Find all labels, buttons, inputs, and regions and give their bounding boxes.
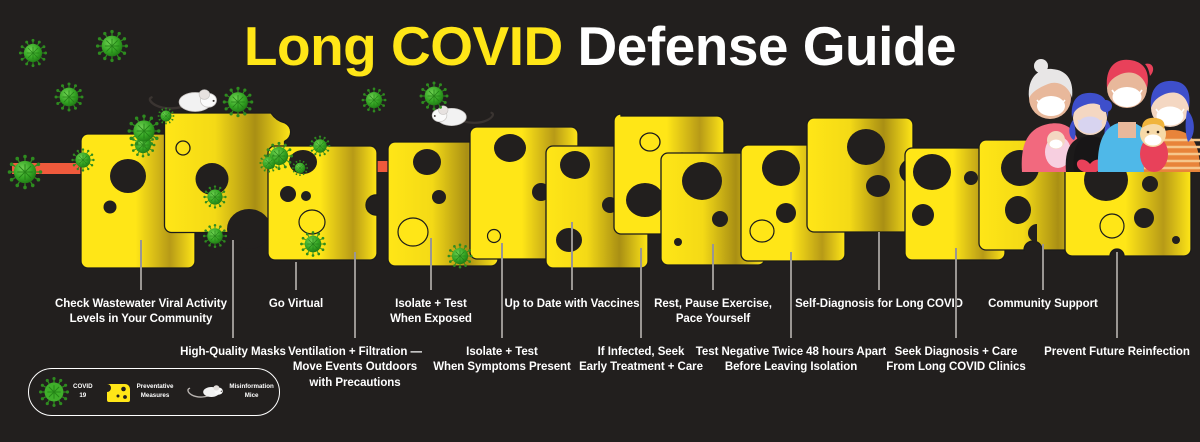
covid-virus-icon — [96, 30, 128, 62]
cheese-icon — [107, 380, 133, 404]
callout-caption: Community Support — [928, 297, 1158, 312]
callout-leader-line — [295, 262, 296, 290]
mouse-icon — [185, 382, 225, 402]
covid-virus-icon — [55, 83, 84, 112]
callout-leader-line — [140, 240, 141, 290]
legend-item-label: Misinformation Mice — [229, 383, 273, 401]
callout-leader-line — [878, 232, 879, 290]
misinformation-mouse-icon — [432, 106, 493, 126]
callout-leader-line — [955, 248, 956, 338]
callout-leader-line — [1042, 244, 1043, 290]
callout-leader-line — [1116, 252, 1117, 338]
callout-leader-line — [712, 244, 713, 290]
virus-icon — [39, 377, 69, 407]
covid-virus-icon — [19, 39, 47, 67]
legend: COVID 19 Preventative Measures Misinform… — [28, 368, 280, 416]
masked-family-illustration — [1014, 36, 1200, 177]
callout-leader-line — [790, 252, 791, 338]
cheese-slice — [807, 118, 913, 232]
callout-leader-line — [430, 238, 431, 290]
legend-item-label: COVID 19 — [73, 383, 93, 401]
family-svg — [1014, 36, 1200, 172]
callout-leader-line — [232, 240, 233, 338]
covid-virus-icon — [8, 155, 43, 190]
callout-leader-line — [501, 243, 502, 338]
legend-item-preventative-measures: Preventative Measures — [107, 380, 174, 404]
callout-caption: Prevent Future Reinfection — [1002, 345, 1200, 360]
covid-virus-icon — [362, 88, 387, 113]
misinformation-mouse-icon — [150, 90, 217, 112]
legend-item-label: Preventative Measures — [137, 383, 174, 401]
long-covid-defense-guide-poster: Long COVID Defense Guide — [0, 0, 1200, 442]
legend-item-misinformation-mice: Misinformation Mice — [185, 382, 273, 402]
legend-item-covid19: COVID 19 — [39, 377, 93, 407]
callout-leader-line — [571, 222, 572, 290]
family-member-baby — [1140, 118, 1168, 172]
